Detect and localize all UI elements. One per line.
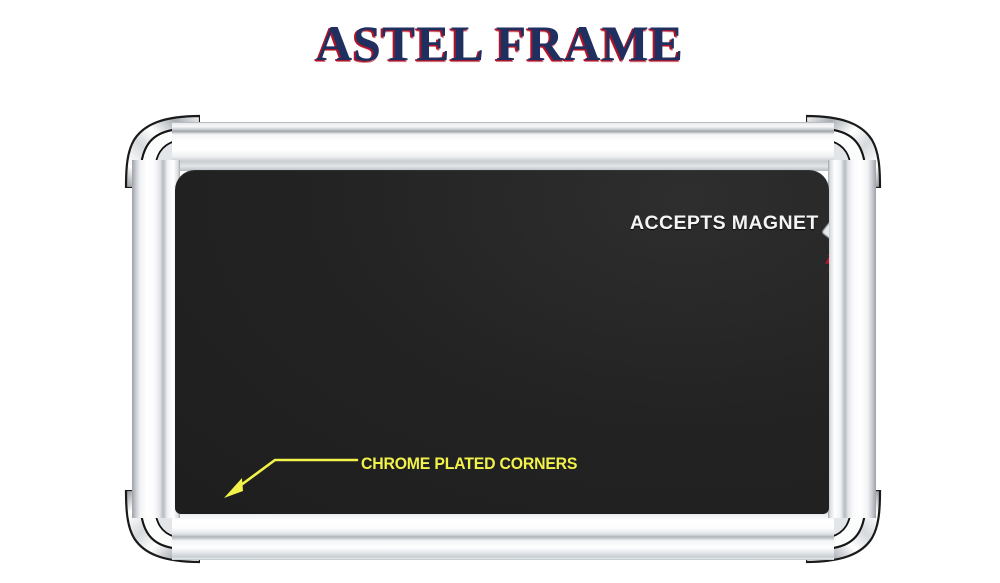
chrome-corners-callout: CHROME PLATED CORNERS <box>211 442 641 502</box>
display-panel: ACCEPTS MAGNET <box>175 170 829 514</box>
frame-rail-left <box>132 160 180 518</box>
picture-frame: ACCEPTS MAGNET <box>128 116 878 562</box>
accepts-magnet-label: ACCEPTS MAGNET <box>630 212 819 235</box>
page-title: ASTEL FRAME <box>0 18 1000 68</box>
frame-rail-right <box>828 160 876 518</box>
frame-rail-bottom <box>172 511 834 560</box>
frame-rail-top <box>172 122 834 171</box>
chrome-corners-label: CHROME PLATED CORNERS <box>361 454 577 474</box>
magnet-spark-icon <box>822 236 829 312</box>
horseshoe-magnet-icon <box>805 184 829 324</box>
